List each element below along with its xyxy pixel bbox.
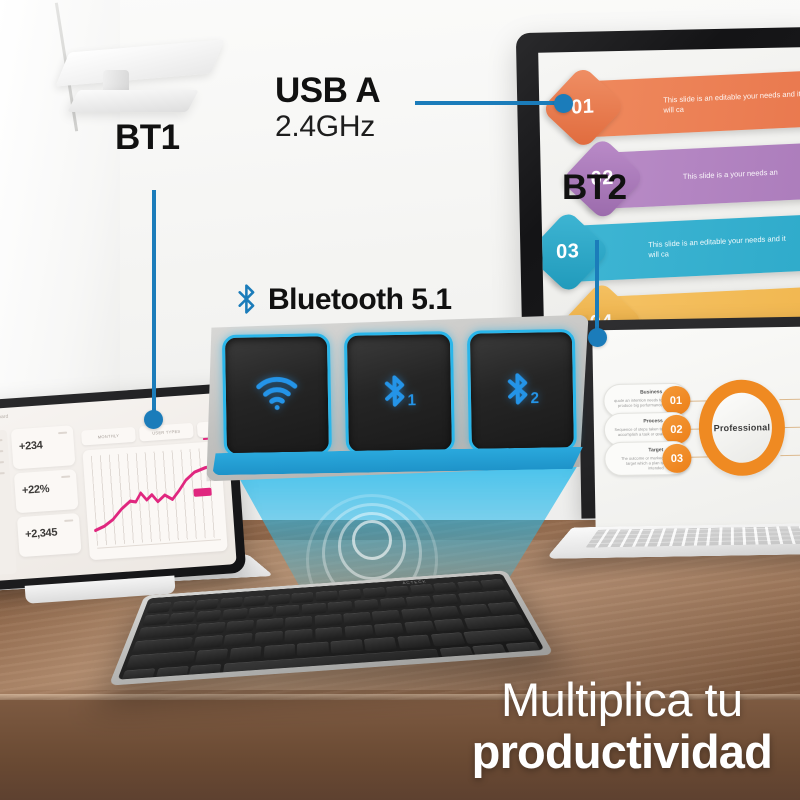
hub-caption-01: Business: [611, 389, 662, 396]
slide-badge-01: 01: [541, 65, 626, 150]
keyboard-key[interactable]: [397, 635, 431, 649]
stat-card-3[interactable]: +2,345: [17, 513, 82, 557]
tablet-tab-monthly[interactable]: MONTHLY: [81, 427, 136, 446]
mount-plate: [55, 39, 224, 86]
bluetooth-2-icon: 2: [499, 369, 544, 413]
hub-number-02: 02: [662, 415, 692, 445]
keyboard-key[interactable]: [314, 614, 341, 627]
stat-card-value-2: +22%: [22, 483, 50, 497]
stat-card-value-3: +2,345: [25, 527, 58, 541]
keyboard-key[interactable]: [193, 635, 223, 649]
sidebar-line: [0, 450, 3, 453]
keyboard-key[interactable]: [219, 597, 242, 608]
connector-dot-usb-a: [554, 94, 573, 113]
label-bt1: BT1: [115, 118, 180, 158]
headline-group: Multiplica tu productividad: [472, 674, 772, 778]
stat-card-1[interactable]: +234: [11, 425, 76, 469]
hub-number-03: 03: [662, 444, 692, 474]
key-bluetooth-1[interactable]: 1: [344, 331, 454, 455]
keyboard-key[interactable]: [401, 608, 431, 620]
stat-card-value-1: +234: [19, 439, 43, 453]
keypad-key-group: 1 2: [222, 329, 577, 457]
keyboard-key[interactable]: [291, 592, 313, 603]
keyboard-key[interactable]: [267, 594, 289, 605]
keyboard-key[interactable]: [226, 620, 254, 633]
key-wifi-24ghz[interactable]: [222, 333, 332, 457]
chart-tooltip-badge: [193, 488, 212, 497]
keyboard-key[interactable]: [285, 629, 313, 642]
keyboard-key[interactable]: [380, 597, 406, 609]
key-bluetooth-2[interactable]: 2: [466, 329, 576, 453]
sidebar-line: [0, 439, 3, 442]
signal-wave-ring-1: [352, 520, 392, 560]
wifi-24ghz-icon: [254, 373, 301, 417]
keyboard-key[interactable]: [196, 622, 225, 635]
slide-row-01: 01 This slide is an editable your needs …: [567, 68, 800, 139]
keyboard-key[interactable]: [256, 618, 283, 631]
hub-caption-03: Target: [612, 447, 663, 454]
label-usb-a-group: USB A 2.4GHz: [275, 72, 380, 144]
keyboard-key[interactable]: [222, 608, 248, 620]
stat-card-2[interactable]: +22%: [14, 469, 79, 513]
keyboard-key[interactable]: [315, 627, 343, 640]
connector-dot-bt1: [144, 410, 163, 429]
keyboard-key[interactable]: [142, 614, 170, 626]
connector-line-bt1: [152, 190, 156, 418]
keyboard-key[interactable]: [386, 586, 410, 597]
tablet-screen: Dashboard +234 +22% +2,345 MONTHLY USER …: [0, 392, 237, 581]
label-bt2: BT2: [562, 168, 627, 208]
keyboard-key[interactable]: [339, 589, 362, 600]
keyboard-key[interactable]: [409, 584, 433, 595]
sidebar-line: [0, 461, 4, 464]
svg-text:2: 2: [530, 389, 539, 406]
hub-desc-03: The outcome or marked target which a pla…: [612, 455, 663, 471]
keyboard-key[interactable]: [229, 646, 262, 660]
keyboard-key[interactable]: [169, 612, 196, 624]
keyboard-key[interactable]: [195, 649, 228, 664]
keyboard-key[interactable]: [374, 623, 404, 636]
mount-base: [67, 90, 199, 112]
keyboard-key-alt[interactable]: [188, 664, 221, 679]
desktop-monitor: 01 This slide is an editable your needs …: [516, 27, 800, 343]
keyboard-key[interactable]: [297, 642, 328, 656]
connector-line-usb-a: [415, 101, 565, 105]
headline-line-2: productividad: [472, 726, 772, 778]
label-24ghz: 2.4GHz: [275, 110, 380, 144]
keyboard-key[interactable]: [243, 596, 266, 607]
laptop: Professional Business quote an intention…: [578, 315, 800, 550]
connector-dot-bt2: [588, 328, 607, 347]
spoke-06: [780, 454, 800, 456]
hub-center-label: Professional: [714, 422, 771, 433]
keyboard-key[interactable]: [171, 601, 195, 612]
slide-row-03: 03 This slide is an editable your needs …: [552, 211, 800, 283]
keyboard-key[interactable]: [315, 591, 337, 602]
slide-text-02: This slide is a your needs an: [683, 168, 778, 182]
stat-card-marker: [64, 519, 73, 522]
keyboard-key[interactable]: [345, 625, 374, 638]
hub-caption-02: Process: [612, 418, 663, 425]
keyboard-key[interactable]: [364, 637, 397, 651]
keyboard-key[interactable]: [331, 639, 363, 653]
keyboard-key[interactable]: [343, 612, 371, 624]
keyboard-key-ctrl[interactable]: [120, 668, 155, 679]
slide-number-03: 03: [557, 240, 581, 264]
keyboard-key[interactable]: [302, 603, 326, 615]
stat-card-marker: [61, 475, 70, 478]
keyboard-key[interactable]: [147, 602, 172, 613]
professional-hub-diagram: Professional Business quote an intention…: [592, 325, 800, 540]
keyboard-key-capslock[interactable]: [132, 637, 194, 653]
spoke-04: [779, 399, 800, 401]
bluetooth-icon: [233, 282, 261, 321]
svg-text:1: 1: [408, 392, 417, 409]
keyboard-key-fn[interactable]: [154, 666, 188, 680]
slide-text-03: This slide is an editable your needs and…: [648, 233, 798, 260]
hub-desc-01: quote an intention needs to produce big …: [611, 397, 662, 408]
hub-item-03: Target The outcome or marked target whic…: [604, 441, 691, 476]
bluetooth-1-icon: 1: [377, 371, 422, 415]
hub-number-01: 01: [661, 386, 691, 416]
monitor-wall-mount: [55, 42, 225, 112]
multi-device-switch-keypad: 1 2: [204, 315, 592, 482]
slide-number-01: 01: [572, 95, 596, 119]
connector-line-bt2: [595, 240, 599, 338]
keyboard-key[interactable]: [254, 631, 282, 644]
slide-text-01: This slide is an editable your needs and…: [663, 89, 800, 116]
tablet-topbar-title: Dashboard: [0, 414, 9, 422]
keyboard-key[interactable]: [404, 621, 435, 634]
keyboard-key[interactable]: [354, 599, 380, 611]
keyboard-key[interactable]: [285, 616, 312, 629]
keyboard-key[interactable]: [195, 610, 221, 622]
keyboard-key[interactable]: [372, 610, 401, 622]
label-bluetooth-version: Bluetooth 5.1: [268, 283, 452, 317]
headline-line-1: Multiplica tu: [472, 674, 772, 726]
keyboard-key[interactable]: [195, 599, 219, 610]
label-usb-a: USB A: [275, 72, 380, 110]
keyboard-key[interactable]: [406, 596, 433, 608]
laptop-screen: Professional Business quote an intention…: [592, 325, 800, 540]
keyboard-key[interactable]: [362, 587, 385, 598]
product-marketing-scene: 01 This slide is an editable your needs …: [0, 0, 800, 800]
hub-desc-02: Sequence of steps taken to accomplish a …: [612, 426, 663, 437]
keyboard-key[interactable]: [249, 607, 274, 619]
keyboard-key[interactable]: [275, 605, 299, 617]
slide-badge-03: 03: [538, 210, 611, 295]
keyboard-key[interactable]: [328, 601, 353, 613]
stat-card-marker: [58, 432, 67, 435]
sidebar-line: [0, 472, 5, 475]
hub-center-ring: Professional: [698, 379, 786, 476]
keyboard-key[interactable]: [263, 644, 295, 658]
keyboard-key[interactable]: [224, 633, 253, 646]
